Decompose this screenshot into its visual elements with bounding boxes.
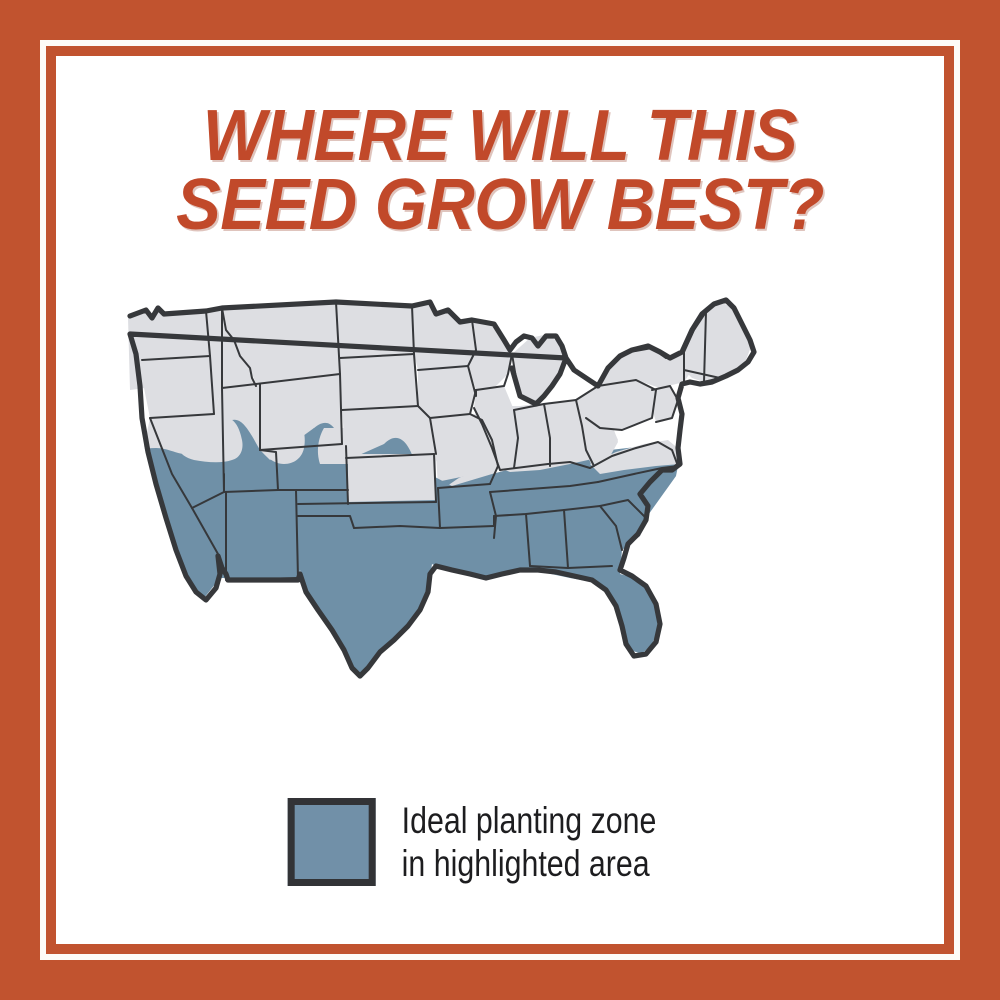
legend-label: Ideal planting zone in highlighted area <box>402 799 657 886</box>
legend-line-1: Ideal planting zone <box>402 799 657 842</box>
legend-line-2: in highlighted area <box>402 842 657 885</box>
state-oregon <box>142 356 214 418</box>
state-iowa <box>418 366 476 418</box>
state-south-dakota <box>340 354 418 410</box>
us-map-svg <box>100 278 900 758</box>
page-title: WHERE WILL THIS SEED GROW BEST? <box>56 102 944 240</box>
highlight-notch-kansas <box>348 454 436 502</box>
infographic-poster: WHERE WILL THIS SEED GROW BEST? <box>0 0 1000 1000</box>
legend-color-swatch <box>288 798 376 886</box>
poster-card: WHERE WILL THIS SEED GROW BEST? <box>56 56 944 944</box>
title-line-2: SEED GROW BEST? <box>87 171 913 240</box>
us-map <box>100 278 900 758</box>
title-line-1: WHERE WILL THIS <box>87 102 913 171</box>
map-legend: Ideal planting zone in highlighted area <box>288 798 713 886</box>
